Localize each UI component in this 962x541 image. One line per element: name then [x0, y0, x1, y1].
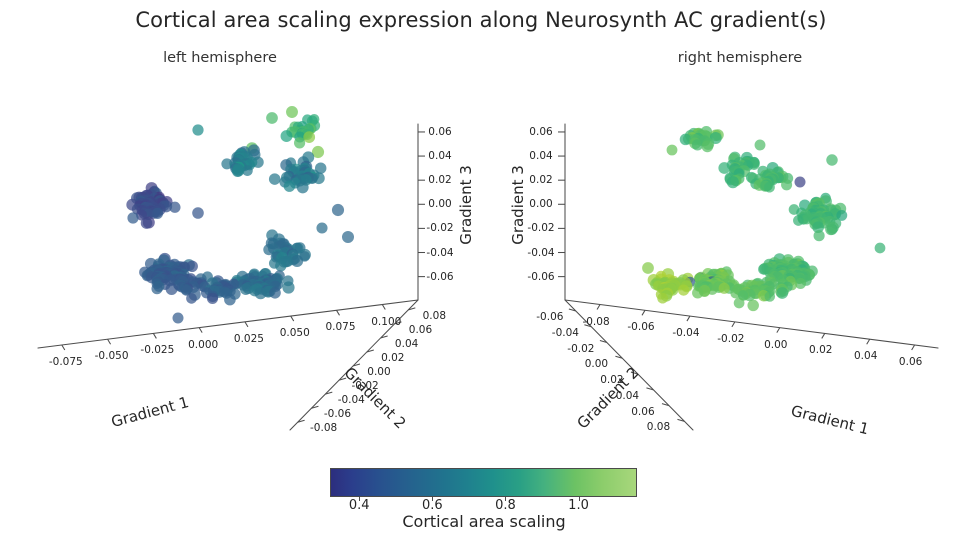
scatter-point [281, 130, 293, 142]
scatter-point [875, 243, 886, 254]
colorbar-label: Cortical area scaling [330, 512, 638, 531]
scatter-point [678, 285, 689, 296]
axis-tick-label: -0.02 [426, 222, 453, 234]
scatter-point [269, 173, 281, 185]
axis-tick-label: 0.00 [764, 339, 787, 351]
axis-tick [732, 322, 735, 327]
scatter-point [316, 222, 327, 233]
scatter-point [297, 181, 309, 193]
scatter-point [764, 182, 775, 193]
axis-tick-label: 0.06 [409, 324, 432, 336]
axis-tick [245, 322, 248, 327]
axis-title: Gradient 3 [509, 165, 527, 245]
axis-tick-label: -0.06 [324, 408, 351, 420]
scatter-point [192, 124, 203, 135]
scatter-point [275, 260, 286, 271]
scatter-point [342, 231, 354, 243]
axis-tick-label: 0.02 [428, 174, 451, 186]
scatter-point [286, 106, 298, 118]
axis-tick [687, 316, 690, 321]
axis-tick [291, 316, 294, 321]
axis-tick-label: -0.06 [536, 311, 563, 323]
axis-tick [642, 310, 645, 315]
scatter-point [776, 287, 788, 299]
scatter-point [284, 180, 295, 191]
axis-tick-label: 0.100 [371, 316, 401, 328]
axis-tick-label: -0.04 [552, 327, 579, 339]
colorbar-tick-label: 0.4 [349, 498, 370, 513]
axis-tick [382, 305, 385, 310]
axis-tick [62, 345, 65, 350]
axis-tick-label: 0.06 [899, 356, 922, 368]
axis-tick [822, 333, 825, 338]
colorbar-tick-label: 0.6 [422, 498, 443, 513]
axis-tick [108, 339, 111, 344]
scatter-point [642, 262, 654, 274]
axis-tick-label: 0.00 [367, 366, 390, 378]
scatter-point [755, 140, 766, 151]
scatter-point [303, 131, 315, 143]
axis-tick-label: 0.00 [529, 198, 552, 210]
scatter-point [224, 294, 236, 306]
axis-tick-label: 0.02 [809, 344, 832, 356]
axis-tick-label: 0.02 [529, 174, 552, 186]
scatter-point [727, 176, 739, 188]
scatter-point [719, 283, 730, 294]
axis-tick-label: 0.04 [854, 350, 877, 362]
axis-tick-label: 0.06 [631, 406, 654, 418]
axis-tick-label: 0.06 [529, 126, 552, 138]
axis-tick-label: 0.025 [234, 333, 264, 345]
scatter-point [192, 207, 204, 219]
axis-tick-label: 0.000 [188, 339, 218, 351]
scatter-point [269, 287, 281, 299]
axis-tick-label: -0.02 [717, 333, 744, 345]
axis-tick [199, 328, 202, 333]
scatter-point [282, 281, 294, 293]
colorbar-gradient [330, 468, 637, 497]
axis-tick-label: -0.06 [627, 321, 654, 333]
axis-tick-label: 0.04 [529, 150, 552, 162]
axis-tick-label: -0.04 [527, 247, 554, 259]
axis-tick-label: -0.08 [582, 316, 609, 328]
scatter-point [692, 139, 703, 150]
axis-tick-label: -0.04 [672, 327, 699, 339]
scatter-point [702, 140, 714, 152]
scatter-point [232, 166, 243, 177]
figure-canvas: Cortical area scaling expression along N… [0, 0, 962, 541]
scatter-point [151, 283, 162, 294]
axis-tick-label: -0.04 [426, 247, 453, 259]
scatter-point [186, 293, 197, 304]
scatter-point [255, 287, 267, 299]
scatter-point [667, 145, 678, 156]
axis-tick-label: 0.08 [647, 421, 670, 433]
scatter-point [692, 287, 703, 298]
scatter-point [814, 230, 825, 241]
scatter-point [294, 137, 305, 148]
scatter-point [795, 177, 806, 188]
scatter-point [825, 224, 836, 235]
scatter-point [266, 112, 278, 124]
scatter-point [826, 154, 837, 165]
scatter-point [657, 293, 668, 304]
axis-tick [337, 310, 340, 315]
axis-tick-label: 0.02 [381, 352, 404, 364]
colorbar-tick-label: 0.8 [495, 498, 516, 513]
axis-tick-label: -0.02 [527, 222, 554, 234]
scatter-point [173, 313, 184, 324]
axis-tick-label: 0.00 [428, 198, 451, 210]
axis-tick-label: -0.075 [49, 356, 83, 368]
scatter-point [747, 300, 759, 312]
scatter-points-left-hemisphere [126, 106, 354, 323]
axis-tick [777, 328, 780, 333]
scatter-point [734, 298, 745, 309]
axis-tick-label: 0.050 [280, 327, 310, 339]
axis-tick-label: -0.050 [95, 350, 129, 362]
axis-tick-label: -0.06 [527, 271, 554, 283]
scatter-point [332, 204, 344, 216]
scatter-point [127, 212, 138, 223]
axis-title: Gradient 3 [457, 165, 475, 245]
axis-tick [153, 333, 156, 338]
scatter-point [207, 293, 218, 304]
axis-tick-label: -0.025 [140, 344, 174, 356]
axis-tick-label: -0.02 [567, 343, 594, 355]
scatter-point [781, 179, 792, 190]
axis-tick-label: 0.075 [325, 321, 355, 333]
axis-tick-label: 0.04 [428, 150, 451, 162]
axis-tick-label: 0.08 [423, 310, 446, 322]
plot-area [0, 0, 962, 541]
axis-tick [597, 305, 600, 310]
scatter-point [169, 202, 180, 213]
scatter-point [718, 162, 730, 174]
axis-tick-label: 0.00 [585, 358, 608, 370]
scatter-point [793, 215, 804, 226]
scatter-point [166, 283, 178, 295]
axis-tick [912, 345, 915, 350]
scatter-points-right-hemisphere [642, 126, 885, 311]
colorbar-tick-label: 1.0 [568, 498, 589, 513]
scatter-point [141, 217, 152, 228]
axis-tick-label: -0.06 [426, 271, 453, 283]
scatter-point [765, 291, 776, 302]
axis-tick-label: 0.06 [428, 126, 451, 138]
axis-tick-label: -0.08 [310, 422, 337, 434]
axis-tick [867, 339, 870, 344]
axis-tick-label: 0.04 [395, 338, 418, 350]
